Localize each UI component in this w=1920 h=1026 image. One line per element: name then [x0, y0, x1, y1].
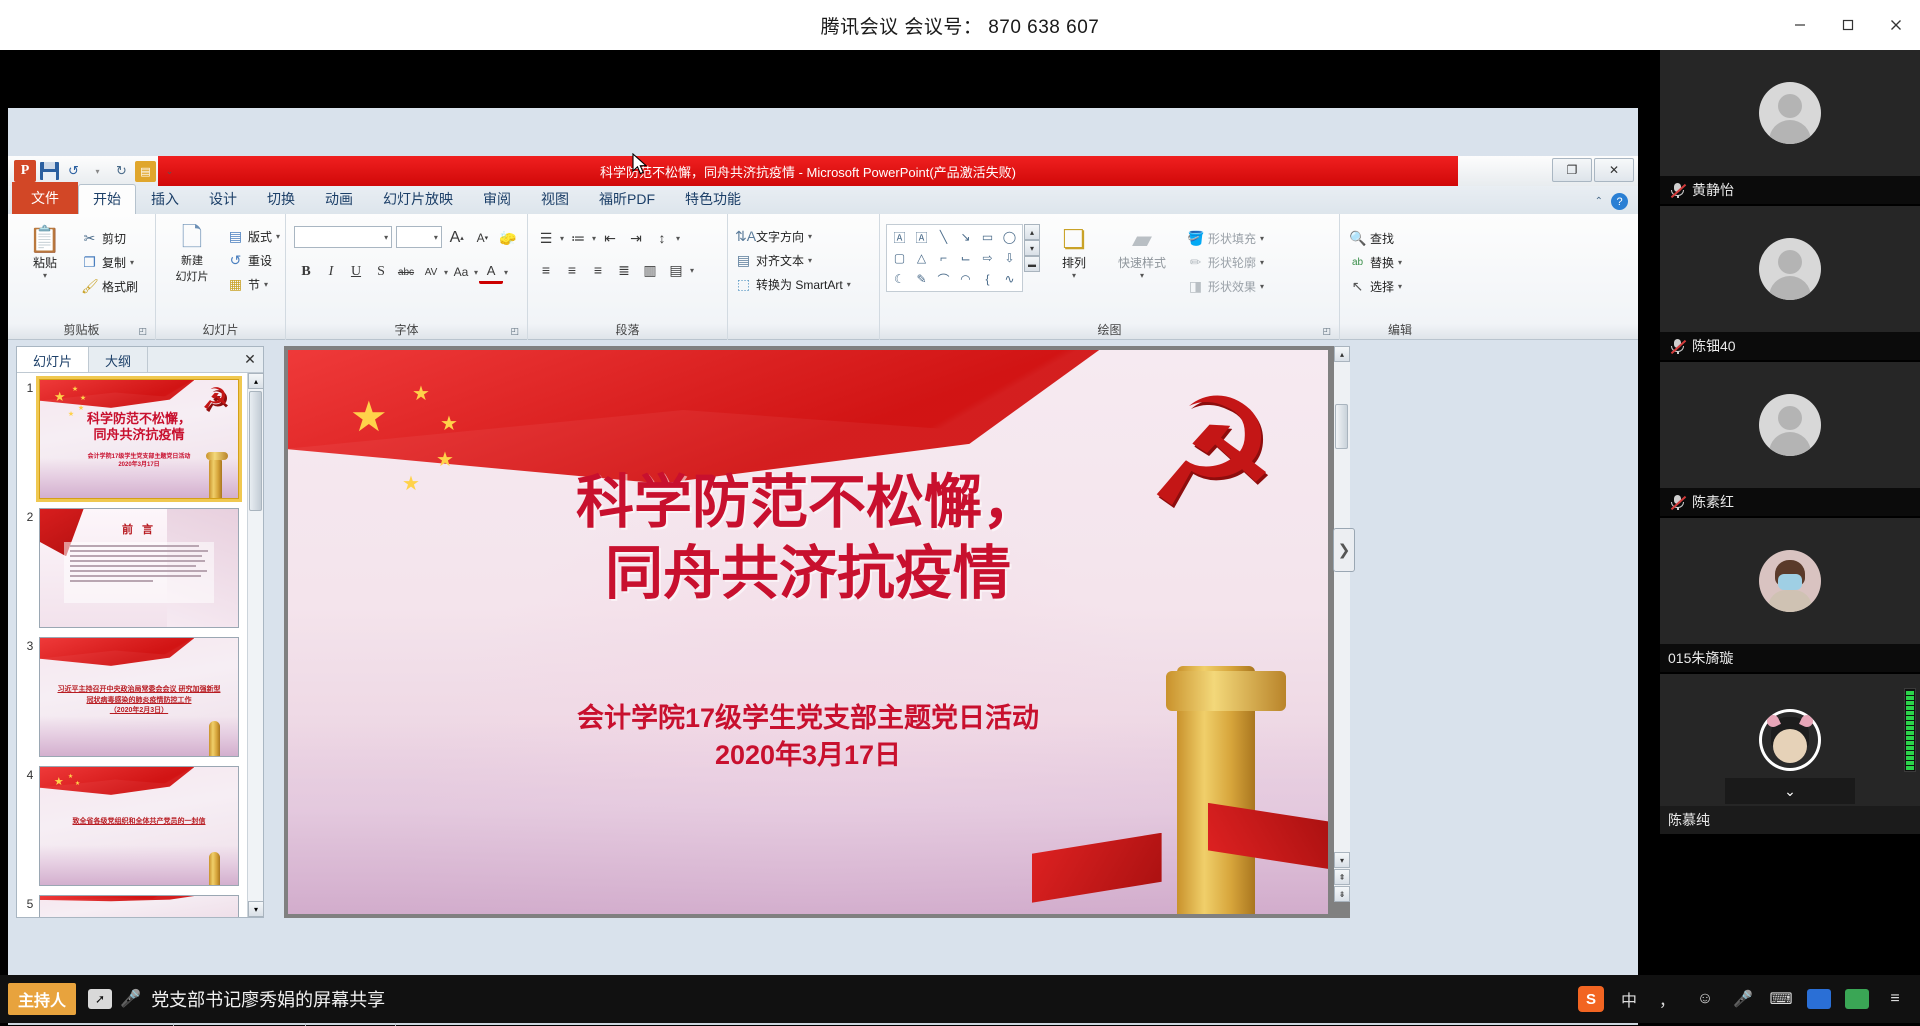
character-spacing-button[interactable]: AV: [419, 260, 443, 284]
shrink-font-button[interactable]: A▾: [472, 226, 494, 250]
maximize-button[interactable]: [1824, 0, 1872, 50]
thumb3-line1: 习近平主持召开中央政治局常委会会议 研究加强新型冠状病毒感染的肺炎疫情防控工作: [58, 686, 221, 704]
shape-scribble-icon[interactable]: ∿: [999, 269, 1020, 289]
participant-video: [1660, 362, 1920, 488]
replace-button[interactable]: ab 替换 ▾: [1346, 250, 1454, 274]
numbering-caret-icon[interactable]: ▾: [592, 234, 596, 243]
tab-review[interactable]: 审阅: [468, 184, 526, 214]
group-drawing: 🄰 🄰 ╲ ↘ ▭ ◯ ▢ △ ⌐ ⌙ ⇨ ⇩ ☾: [880, 214, 1340, 340]
align-text-label: 对齐文本: [756, 252, 804, 269]
numbering-button[interactable]: ≔: [566, 226, 590, 250]
participant-name-row: 陈素红: [1660, 488, 1920, 516]
collapse-participants-button[interactable]: ⌄: [1725, 778, 1855, 804]
format-painter-button[interactable]: 🖌 格式刷: [78, 274, 141, 298]
italic-button[interactable]: I: [319, 260, 343, 284]
text-direction-button[interactable]: ⇅A 文字方向 ▾: [732, 224, 875, 248]
align-right-button[interactable]: ≡: [586, 258, 610, 282]
font-color-button[interactable]: A: [479, 260, 503, 284]
close-button[interactable]: [1872, 0, 1920, 50]
ime-emoji-icon[interactable]: ☺: [1692, 986, 1718, 1012]
tab-outline[interactable]: 大纲: [89, 347, 148, 372]
group-paragraph-extra: ⇅A 文字方向 ▾ ▤ 对齐文本 ▾ ⬚ 转换为 SmartArt ▾: [728, 214, 880, 340]
share-status-icons: ➚ 🎤: [88, 989, 141, 1009]
section-icon: ▦: [227, 276, 244, 293]
slide-thumbnail-2[interactable]: 前 言: [39, 508, 239, 628]
scrollbar-thumb[interactable]: [249, 391, 262, 511]
participant-tile[interactable]: 015朱旖璇: [1660, 518, 1920, 672]
group-clipboard: 📋 粘贴 ▾ ✂ 剪切 ❐ 复制 ▾: [8, 214, 156, 340]
line-spacing-button[interactable]: ↕: [650, 226, 674, 250]
reset-label: 重设: [248, 252, 272, 269]
clear-formatting-icon[interactable]: 🧽: [497, 226, 519, 250]
font-color-caret-icon[interactable]: ▾: [504, 268, 508, 277]
text-direction-icon: ⇅A: [735, 228, 752, 245]
replace-icon: ab: [1349, 257, 1366, 268]
slide-subtitle-line1: 会计学院17级学生党支部主题党日活动: [577, 703, 1039, 733]
select-caret-icon[interactable]: ▾: [1398, 282, 1402, 291]
line-spacing-caret-icon[interactable]: ▾: [676, 234, 680, 243]
list-item[interactable]: 2 前 言: [21, 508, 244, 628]
shape-freeform-icon[interactable]: ✎: [911, 269, 932, 289]
slide-panel-scrollbar[interactable]: ▴ ▾: [247, 373, 263, 917]
group-label-drawing: 绘图: [880, 321, 1339, 338]
participant-tile[interactable]: 陈钿40: [1660, 206, 1920, 360]
layout-button[interactable]: ▤ 版式 ▾: [224, 224, 283, 248]
tab-transitions[interactable]: 切换: [252, 184, 310, 214]
ime-skin-icon[interactable]: [1844, 986, 1870, 1012]
group-label-editing: 编辑: [1340, 321, 1460, 338]
section-label: 节: [248, 276, 260, 293]
screen-share-icon[interactable]: ➚: [88, 989, 112, 1009]
mouse-cursor-icon: [631, 153, 649, 177]
bullets-button[interactable]: ☰: [534, 226, 558, 250]
increase-indent-button[interactable]: ⇥: [624, 226, 648, 250]
tab-home[interactable]: 开始: [78, 184, 136, 214]
select-button[interactable]: ↖ 选择 ▾: [1346, 274, 1454, 298]
tab-slideshow[interactable]: 幻灯片放映: [368, 184, 468, 214]
shape-fill-icon: 🪣: [1187, 230, 1204, 247]
quick-access-toolbar: P ↺ ▾ ↻ ▤ ⌄: [14, 158, 180, 184]
shape-curve-icon[interactable]: ⌒: [933, 269, 954, 289]
align-text-button[interactable]: ▤ 对齐文本 ▾: [732, 248, 875, 272]
group-font: ▾ ▾ A▴ A▾ 🧽 B I U S abc AV ▾ Aa: [286, 214, 528, 340]
participant-name-row: 陈慕纯: [1660, 806, 1920, 834]
format-painter-label: 格式刷: [102, 278, 138, 295]
thumbnail-text: 习近平主持召开中央政治局常委会会议 研究加强新型冠状病毒感染的肺炎疫情防控工作 …: [56, 685, 222, 717]
save-icon[interactable]: [39, 161, 60, 182]
participant-tile[interactable]: ⌄ 陈慕纯: [1660, 674, 1920, 834]
group-label-paragraph: 段落: [528, 321, 727, 338]
bullets-caret-icon[interactable]: ▾: [560, 234, 564, 243]
tab-file[interactable]: 文件: [12, 182, 78, 214]
thumbnail-heading: 前 言: [40, 521, 238, 537]
font-size-combobox[interactable]: ▾: [396, 226, 442, 248]
shape-brace-icon[interactable]: {: [977, 269, 998, 289]
reset-icon: ↺: [227, 252, 244, 269]
ime-punct-icon[interactable]: ，: [1654, 986, 1680, 1012]
stars-icon: ★ ★ ★ ★ ★: [50, 386, 94, 412]
thumbnail-number: 2: [21, 508, 39, 628]
new-slide-icon: 🗋: [182, 222, 203, 252]
host-badge: 主持人: [8, 983, 76, 1015]
group-editing: 🔍 查找 ab 替换 ▾ ↖ 选择 ▾ 编辑: [1340, 214, 1460, 340]
expand-panel-button[interactable]: ❯: [1333, 528, 1355, 572]
sogou-ime-icon[interactable]: S: [1578, 986, 1604, 1012]
participant-name: 陈钿40: [1692, 336, 1736, 356]
quick-styles-icon: ▰: [1132, 224, 1152, 254]
new-slide-button[interactable]: 🗋 新建 幻灯片: [162, 218, 222, 296]
slide-canvas: ★ ★ ★ ★ ★ ☭ 科学防范不松懈， 同舟共济抗疫情 会计学院17级学: [284, 346, 1350, 918]
mic-muted-icon: [1670, 338, 1685, 355]
powerpoint-title-text: 科学防范不松懈，同舟共济抗疫情 - Microsoft PowerPoint(产…: [158, 156, 1458, 186]
group-label-font: 字体: [286, 321, 527, 338]
participant-tile[interactable]: 黄静怡: [1660, 50, 1920, 204]
thumbnail-body: [64, 542, 214, 603]
slide-thumbnail-panel: 幻灯片 大纲 ✕ 1 ★ ★ ★ ★ ★: [16, 346, 264, 918]
smartart-icon: ⬚: [735, 276, 752, 293]
change-case-caret-icon[interactable]: ▾: [474, 268, 478, 277]
list-item[interactable]: 3 习近平主持召开中央政治局常委会会议 研究加强新型冠状病毒感染的肺炎疫情防控工…: [21, 637, 244, 757]
shape-rounded-rect-icon[interactable]: ▢: [889, 248, 910, 268]
select-label: 选择: [1370, 278, 1394, 295]
text-columns-button[interactable]: ▤: [664, 258, 688, 282]
group-label-slides: 幻灯片: [156, 321, 285, 338]
ribbon: 📋 粘贴 ▾ ✂ 剪切 ❐ 复制 ▾: [8, 214, 1638, 340]
ribbon-tabs: 文件 开始 插入 设计 切换 动画 幻灯片放映 审阅 视图 福昕PDF 特色功能…: [8, 186, 1638, 214]
arrange-button[interactable]: ❏ 排列 ▾: [1048, 224, 1100, 280]
ime-mic-icon[interactable]: 🎤: [1730, 986, 1756, 1012]
shape-textbox-icon[interactable]: 🄰: [889, 227, 910, 247]
taskbar: 主持人 ➚ 🎤 党支部书记廖秀娟的屏幕共享 S 中 ， ☺ 🎤 ⌨ ≡: [0, 975, 1920, 1023]
avatar: [1759, 238, 1821, 300]
redo-icon[interactable]: ▾: [87, 161, 108, 182]
font-dialog-launcher-icon[interactable]: ◰: [510, 326, 519, 337]
clipboard-dialog-launcher-icon[interactable]: ◰: [138, 326, 147, 337]
tab-view[interactable]: 视图: [526, 184, 584, 214]
slide-title[interactable]: 科学防范不松懈， 同舟共济抗疫情: [288, 468, 1328, 610]
thumbnail-title: 科学防范不松懈， 同舟共济抗疫情: [40, 411, 238, 444]
arrange-label: 排列: [1062, 254, 1086, 271]
canvas-scroll-up-icon[interactable]: ▴: [1334, 346, 1350, 362]
slide-thumbnail-4[interactable]: ★ ★ ★ 致全省各级党组织和全体共产党员的一封信: [39, 766, 239, 886]
convert-smartart-button[interactable]: ⬚ 转换为 SmartArt ▾: [732, 272, 875, 296]
previous-slide-icon[interactable]: ⇞: [1334, 869, 1350, 885]
drawing-dialog-launcher-icon[interactable]: ◰: [1322, 326, 1331, 337]
shape-outline-icon: ✏: [1187, 254, 1204, 271]
current-slide[interactable]: ★ ★ ★ ★ ★ ☭ 科学防范不松懈， 同舟共济抗疫情 会计学院17级学: [288, 350, 1328, 914]
tab-foxit-pdf[interactable]: 福昕PDF: [584, 184, 670, 214]
list-item[interactable]: 5: [21, 895, 244, 917]
text-direction-label: 文字方向: [756, 228, 804, 245]
paste-icon: 📋: [29, 224, 61, 254]
shared-screen-region: P ↺ ▾ ↻ ▤ ⌄ 科学防范不松懈，同舟共济抗疫情 - Microsoft …: [0, 50, 1660, 975]
thumbnail-subtitle: 会计学院17级学生党支部主题党日活动 2020年3月17日: [40, 453, 238, 469]
select-icon: ↖: [1349, 278, 1366, 295]
minimize-button[interactable]: [1776, 0, 1824, 50]
avatar: [1759, 82, 1821, 144]
slide-thumbnail-5[interactable]: [39, 895, 239, 917]
change-case-button[interactable]: Aa: [449, 260, 473, 284]
slide-subtitle-line2: 2020年3月17日: [715, 740, 901, 770]
shape-down-arrow-icon[interactable]: ⇩: [999, 248, 1020, 268]
thumbnail-text: 致全省各级党组织和全体共产党员的一封信: [56, 817, 222, 828]
tab-special-features[interactable]: 特色功能: [670, 184, 756, 214]
smartart-caret-icon[interactable]: ▾: [847, 280, 851, 289]
underline-button[interactable]: U: [344, 260, 368, 284]
layout-caret-icon[interactable]: ▾: [276, 232, 280, 241]
shape-outline-label: 形状轮廓: [1208, 254, 1256, 271]
powerpoint-window: P ↺ ▾ ↻ ▤ ⌄ 科学防范不松懈，同舟共济抗疫情 - Microsoft …: [8, 108, 1638, 1025]
align-text-caret-icon[interactable]: ▾: [808, 256, 812, 265]
shape-connector-icon[interactable]: ⌙: [955, 248, 976, 268]
new-slide-label-2: 幻灯片: [176, 268, 209, 284]
copy-button[interactable]: ❐ 复制 ▾: [78, 250, 141, 274]
tab-design[interactable]: 设计: [194, 184, 252, 214]
slide-thumbnail-list: 1 ★ ★ ★ ★ ★ ☭: [17, 373, 248, 917]
refresh-icon[interactable]: ↻: [111, 161, 132, 182]
avatar: [1759, 709, 1821, 771]
find-label: 查找: [1370, 230, 1394, 247]
cut-button[interactable]: ✂ 剪切: [78, 226, 141, 250]
thumb-sub-line2: 2020年3月17日: [118, 462, 159, 468]
section-button[interactable]: ▦ 节 ▾: [224, 272, 283, 296]
participant-name: 陈慕纯: [1668, 810, 1710, 830]
copy-icon: ❐: [81, 254, 98, 271]
slide-thumbnail-1[interactable]: ★ ★ ★ ★ ★ ☭ 科学防范不松懈， 同舟共济抗疫情: [39, 379, 239, 499]
character-spacing-caret-icon[interactable]: ▾: [444, 268, 448, 277]
ppt-restore-button[interactable]: ❐: [1552, 158, 1592, 182]
align-left-button[interactable]: ≡: [534, 258, 558, 282]
convert-smartart-label: 转换为 SmartArt: [756, 276, 843, 293]
slide-thumbnail-3[interactable]: 习近平主持召开中央政治局常委会会议 研究加强新型冠状病毒感染的肺炎疫情防控工作 …: [39, 637, 239, 757]
shape-outline-caret-icon[interactable]: ▾: [1260, 258, 1264, 267]
presentation-icon[interactable]: ▤: [135, 161, 156, 182]
customize-qat-icon[interactable]: ⌄: [159, 161, 180, 182]
canvas-vertical-scrollbar[interactable]: ▴ ▾ ⇞ ⇟: [1334, 346, 1350, 902]
slide-panel-tabs: 幻灯片 大纲 ✕: [17, 347, 263, 373]
meeting-window-controls: [1776, 0, 1920, 50]
shape-arrow-icon[interactable]: ↘: [955, 227, 976, 247]
system-tray: S 中 ， ☺ 🎤 ⌨ ≡: [1578, 986, 1920, 1012]
find-icon: 🔍: [1349, 230, 1366, 247]
columns-button[interactable]: ▥: [638, 258, 662, 282]
layout-icon: ▤: [227, 228, 244, 245]
shape-moon-icon[interactable]: ☾: [889, 269, 910, 289]
tab-slides[interactable]: 幻灯片: [17, 347, 89, 372]
copy-label: 复制: [102, 254, 126, 271]
shapes-scroll-up-button[interactable]: ▴: [1024, 224, 1040, 240]
arrange-caret-icon[interactable]: ▾: [1072, 271, 1076, 280]
ime-chinese-icon[interactable]: 中: [1616, 986, 1642, 1012]
shadow-button[interactable]: S: [369, 260, 393, 284]
paste-label: 粘贴: [33, 254, 57, 271]
text-direction-caret-icon[interactable]: ▾: [808, 232, 812, 241]
paste-caret-icon[interactable]: ▾: [43, 271, 47, 280]
shape-outline-button[interactable]: ✏ 形状轮廓 ▾: [1184, 250, 1267, 274]
ppt-close-button[interactable]: ✕: [1594, 158, 1634, 182]
thumb-sub-line1: 会计学院17级学生党支部主题党日活动: [88, 454, 191, 460]
meeting-title: 腾讯会议 会议号： 870 638 607: [821, 12, 1100, 39]
participant-video: ⌄: [1660, 674, 1920, 806]
shape-fill-button[interactable]: 🪣 形状填充 ▾: [1184, 226, 1267, 250]
tab-insert[interactable]: 插入: [136, 184, 194, 214]
shapes-more-button[interactable]: ▬: [1024, 256, 1040, 272]
close-panel-icon[interactable]: ✕: [237, 347, 263, 372]
meeting-titlebar: 腾讯会议 会议号： 870 638 607: [0, 0, 1920, 50]
list-item[interactable]: 1 ★ ★ ★ ★ ★ ☭: [21, 379, 244, 499]
participant-name-row: 015朱旖璇: [1660, 644, 1920, 672]
shape-fill-label: 形状填充: [1208, 230, 1256, 247]
shape-oval-icon[interactable]: ◯: [999, 227, 1020, 247]
volume-meter: [1904, 688, 1916, 772]
scissors-icon: ✂: [81, 230, 98, 247]
participant-name: 015朱旖璇: [1668, 648, 1733, 668]
undo-icon[interactable]: ↺: [63, 161, 84, 182]
find-button[interactable]: 🔍 查找: [1346, 226, 1454, 250]
thumb-title-line2: 同舟共济抗疫情: [93, 427, 184, 442]
thumb-title-line1: 科学防范不松懈，: [87, 411, 191, 426]
slide-title-line1: 科学防范不松懈，: [576, 470, 1040, 535]
slide-title-line2: 同舟共济抗疫情: [605, 541, 1011, 606]
shape-line-icon[interactable]: ╲: [933, 227, 954, 247]
slide-subtitle[interactable]: 会计学院17级学生党支部主题党日活动 2020年3月17日: [288, 700, 1328, 776]
participant-video: [1660, 206, 1920, 332]
quick-styles-caret-icon[interactable]: ▾: [1140, 271, 1144, 280]
replace-caret-icon[interactable]: ▾: [1398, 258, 1402, 267]
section-caret-icon[interactable]: ▾: [264, 280, 268, 289]
participant-name: 陈素红: [1692, 492, 1734, 512]
shape-arc-icon[interactable]: ◠: [955, 269, 976, 289]
mic-icon[interactable]: 🎤: [120, 989, 141, 1009]
shape-vertical-textbox-icon[interactable]: 🄰: [911, 227, 932, 247]
list-item[interactable]: 4 ★ ★ ★ 致全省各级党组织和全体共产党员的一封信: [21, 766, 244, 886]
justify-button[interactable]: ≣: [612, 258, 636, 282]
shape-elbow-connector-icon[interactable]: ⌐: [933, 248, 954, 268]
shapes-gallery[interactable]: 🄰 🄰 ╲ ↘ ▭ ◯ ▢ △ ⌐ ⌙ ⇨ ⇩ ☾: [886, 224, 1023, 292]
next-slide-icon[interactable]: ⇟: [1334, 886, 1350, 902]
avatar: [1759, 394, 1821, 456]
shape-fill-caret-icon[interactable]: ▾: [1260, 234, 1264, 243]
decrease-indent-button[interactable]: ⇤: [598, 226, 622, 250]
copy-caret-icon[interactable]: ▾: [130, 258, 134, 267]
quick-styles-button[interactable]: ▰ 快速样式 ▾: [1108, 224, 1176, 280]
participant-name-row: 陈钿40: [1660, 332, 1920, 360]
group-paragraph: ☰▾ ≔▾ ⇤ ⇥ ↕▾ ≡ ≡ ≡ ≣ ▥ ▤▾ 段落: [528, 214, 728, 340]
font-name-combobox[interactable]: ▾: [294, 226, 392, 248]
ime-toolbox-icon[interactable]: [1806, 986, 1832, 1012]
shape-effects-icon: ◨: [1187, 278, 1204, 295]
arrange-icon: ❏: [1062, 224, 1085, 254]
help-icon[interactable]: ?: [1611, 193, 1628, 210]
powerpoint-logo-icon: P: [14, 160, 36, 182]
columns-caret-icon[interactable]: ▾: [690, 266, 694, 275]
layout-label: 版式: [248, 228, 272, 245]
shapes-scroll-down-button[interactable]: ▾: [1024, 240, 1040, 256]
avatar: [1759, 550, 1821, 612]
scroll-up-icon[interactable]: ▴: [248, 373, 264, 389]
align-text-icon: ▤: [735, 252, 752, 269]
ime-menu-icon[interactable]: ≡: [1882, 986, 1908, 1012]
canvas-scroll-down-icon[interactable]: ▾: [1334, 852, 1350, 868]
tab-animations[interactable]: 动画: [310, 184, 368, 214]
shape-triangle-icon[interactable]: △: [911, 248, 932, 268]
bold-button[interactable]: B: [294, 260, 318, 284]
replace-label: 替换: [1370, 254, 1394, 271]
ime-keyboard-icon[interactable]: ⌨: [1768, 986, 1794, 1012]
paste-button[interactable]: 📋 粘贴 ▾: [16, 218, 74, 298]
align-center-button[interactable]: ≡: [560, 258, 584, 282]
canvas-scrollbar-thumb[interactable]: [1335, 404, 1348, 449]
grow-font-button[interactable]: A▴: [446, 226, 468, 250]
participant-tile[interactable]: 陈素红: [1660, 362, 1920, 516]
participant-video: [1660, 518, 1920, 644]
thumb3-line2: （2020年2月3日）: [110, 707, 168, 714]
cut-label: 剪切: [102, 230, 126, 247]
participant-name: 黄静怡: [1692, 180, 1734, 200]
format-painter-icon: 🖌: [81, 278, 98, 295]
powerpoint-window-controls: ❐ ✕: [1552, 158, 1634, 182]
shape-right-arrow-icon[interactable]: ⇨: [977, 248, 998, 268]
mic-muted-icon: [1670, 494, 1685, 511]
thumb4-line1: 致全省各级党组织和全体共产党员的一封信: [72, 818, 205, 825]
thumbnail-number: 3: [21, 637, 39, 757]
reset-button[interactable]: ↺ 重设: [224, 248, 283, 272]
thumbnail-number: 5: [21, 895, 39, 917]
new-slide-label-1: 新建: [181, 252, 203, 268]
group-slides: 🗋 新建 幻灯片 ▤ 版式 ▾ ↺ 重设: [156, 214, 286, 340]
participant-video: [1660, 50, 1920, 176]
thumbnail-number: 1: [21, 379, 39, 499]
strikethrough-button[interactable]: abc: [394, 260, 418, 284]
share-status-label: 党支部书记廖秀娟的屏幕共享: [151, 986, 385, 1012]
group-label-clipboard: 剪贴板: [8, 321, 155, 338]
participant-sidebar: 黄静怡 陈钿40 陈素红 015朱旖璇: [1660, 50, 1920, 975]
shape-effects-button[interactable]: ◨ 形状效果 ▾: [1184, 274, 1267, 298]
stars-icon: ★ ★ ★: [50, 773, 94, 799]
mic-muted-icon: [1670, 182, 1685, 199]
participant-name-row: 黄静怡: [1660, 176, 1920, 204]
shape-effects-label: 形状效果: [1208, 278, 1256, 295]
shape-effects-caret-icon[interactable]: ▾: [1260, 282, 1264, 291]
shape-rectangle-icon[interactable]: ▭: [977, 227, 998, 247]
minimize-ribbon-icon[interactable]: ⌃: [1595, 196, 1603, 207]
scroll-down-icon[interactable]: ▾: [248, 901, 264, 917]
thumbnail-number: 4: [21, 766, 39, 886]
quick-styles-label: 快速样式: [1118, 254, 1166, 271]
